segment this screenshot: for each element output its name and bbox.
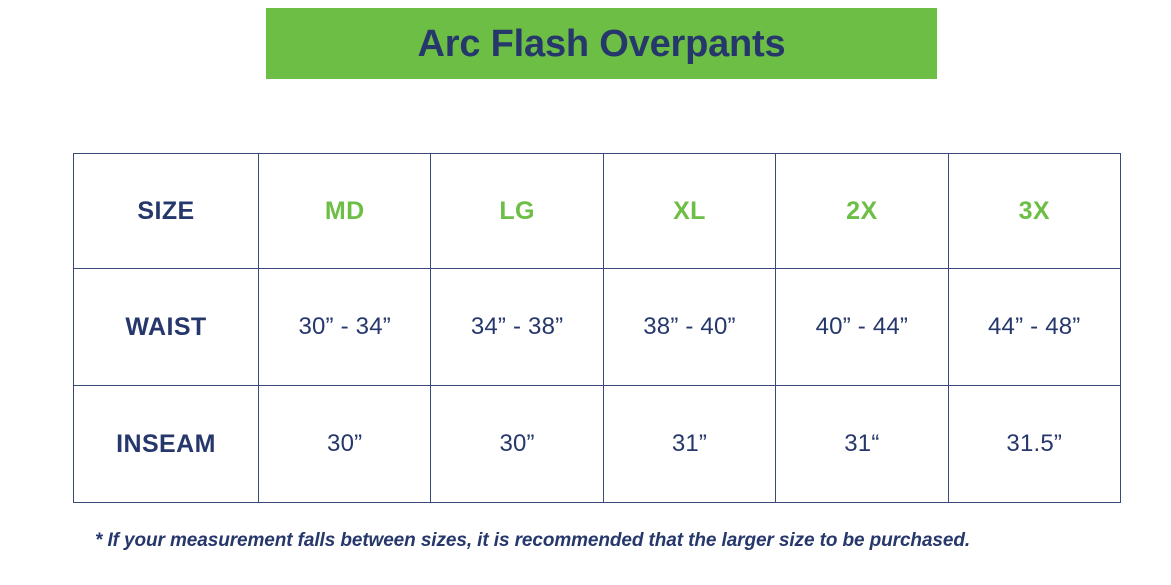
page-title: Arc Flash Overpants: [418, 25, 786, 63]
cell-waist-lg: 34” - 38”: [431, 269, 603, 386]
cell-inseam-xl: 31”: [603, 386, 775, 503]
cell-waist-2x: 40” - 44”: [776, 269, 948, 386]
cell-waist-xl: 38” - 40”: [603, 269, 775, 386]
title-banner: Arc Flash Overpants: [266, 8, 937, 79]
table-row: INSEAM 30” 30” 31” 31“ 31.5”: [74, 386, 1121, 503]
column-header-3x: 3X: [948, 154, 1120, 269]
table-row: WAIST 30” - 34” 34” - 38” 38” - 40” 40” …: [74, 269, 1121, 386]
column-header-lg: LG: [431, 154, 603, 269]
cell-inseam-lg: 30”: [431, 386, 603, 503]
sizing-footnote: * If your measurement falls between size…: [95, 530, 1105, 552]
column-header-size: SIZE: [74, 154, 259, 269]
cell-inseam-md: 30”: [259, 386, 431, 503]
column-header-md: MD: [259, 154, 431, 269]
row-label-waist: WAIST: [74, 269, 259, 386]
table-header-row: SIZE MD LG XL 2X 3X: [74, 154, 1121, 269]
cell-inseam-3x: 31.5”: [948, 386, 1120, 503]
column-header-2x: 2X: [776, 154, 948, 269]
cell-inseam-2x: 31“: [776, 386, 948, 503]
row-label-inseam: INSEAM: [74, 386, 259, 503]
size-chart-table: SIZE MD LG XL 2X 3X WAIST 30” - 34” 34” …: [73, 153, 1121, 503]
size-chart-table-container: SIZE MD LG XL 2X 3X WAIST 30” - 34” 34” …: [73, 153, 1120, 502]
cell-waist-3x: 44” - 48”: [948, 269, 1120, 386]
cell-waist-md: 30” - 34”: [259, 269, 431, 386]
column-header-xl: XL: [603, 154, 775, 269]
